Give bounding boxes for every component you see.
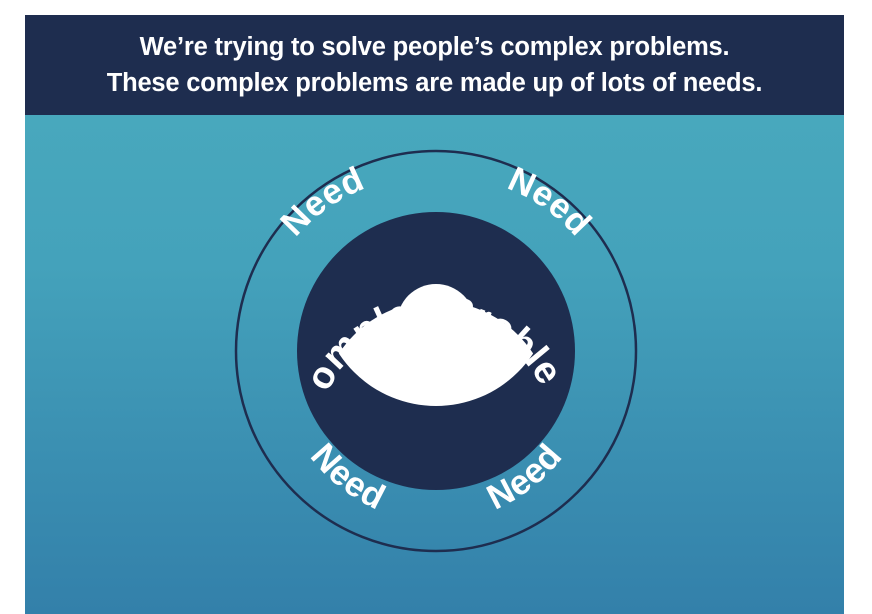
header-line-1: We’re trying to solve people’s complex p… [140, 29, 730, 65]
header-banner: We’re trying to solve people’s complex p… [25, 15, 844, 115]
needs-diagram: Complex Problem Need Need Need Need [25, 115, 844, 614]
slide-canvas: We’re trying to solve people’s complex p… [0, 0, 872, 614]
need-label-top-right: Need [502, 159, 599, 243]
header-line-2: These complex problems are made up of lo… [107, 65, 763, 101]
need-label-top-left: Need [273, 159, 370, 243]
diagram-panel: Complex Problem Need Need Need Need [25, 115, 844, 614]
